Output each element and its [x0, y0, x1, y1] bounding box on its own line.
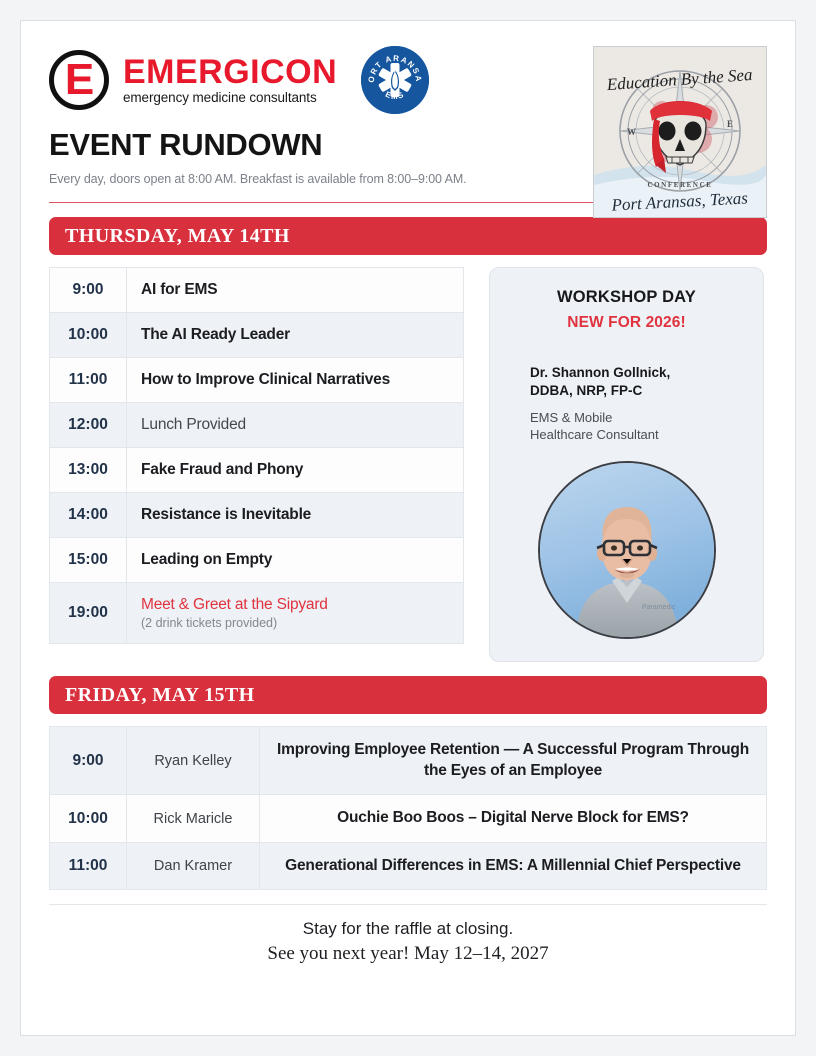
row-time: 13:00	[50, 448, 127, 492]
row-time: 14:00	[50, 493, 127, 537]
row-time: 11:00	[50, 358, 127, 402]
row-speaker: Ryan Kelley	[127, 727, 260, 794]
row-time: 19:00	[50, 583, 127, 643]
event-rundown-page: E EMERGICON emergency medicine consultan…	[20, 20, 796, 1036]
svg-text:Paramedic: Paramedic	[642, 604, 676, 611]
row-title-cell: Resistance is Inevitable	[127, 493, 463, 537]
emergicon-tagline: emergency medicine consultants	[123, 90, 337, 105]
table-row: 19:00Meet & Greet at the Sipyard(2 drink…	[49, 583, 464, 644]
svg-text:E: E	[727, 119, 733, 129]
row-session-title: Ouchie Boo Boos – Digital Nerve Block fo…	[337, 808, 689, 828]
row-time: 15:00	[50, 538, 127, 582]
day-banner-thursday: THURSDAY, MAY 14TH	[49, 217, 767, 255]
table-row: 13:00Fake Fraud and Phony	[49, 448, 464, 493]
day-banner-friday: FRIDAY, MAY 15TH	[49, 676, 767, 714]
port-aransas-ems-logo-icon: PORT ARANSAS EMS	[361, 46, 429, 114]
workshop-speaker-name: Dr. Shannon Gollnick,DDBA, NRP, FP-C	[508, 364, 745, 399]
row-title-cell: How to Improve Clinical Narratives	[127, 358, 463, 402]
emergicon-wordmark: EMERGICON	[123, 55, 337, 90]
row-session-title: Resistance is Inevitable	[141, 506, 449, 524]
table-row: 14:00Resistance is Inevitable	[49, 493, 464, 538]
row-session-title: Lunch Provided	[141, 416, 449, 434]
table-row: 11:00How to Improve Clinical Narratives	[49, 358, 464, 403]
row-time: 10:00	[50, 313, 127, 357]
thursday-section: 9:00AI for EMS10:00The AI Ready Leader11…	[49, 267, 767, 662]
row-time: 10:00	[50, 795, 127, 841]
row-session-title: How to Improve Clinical Narratives	[141, 371, 449, 389]
friday-schedule-table: 9:00Ryan KelleyImproving Employee Retent…	[49, 726, 767, 890]
svg-text:W: W	[627, 127, 636, 137]
emergicon-e-letter: E	[65, 58, 93, 102]
table-row: 9:00AI for EMS	[49, 267, 464, 313]
row-session-title: Improving Employee Retention — A Success…	[274, 740, 752, 781]
workshop-card: WORKSHOP DAY NEW FOR 2026! Dr. Shannon G…	[489, 267, 764, 662]
row-session-title: Fake Fraud and Phony	[141, 461, 449, 479]
footer-line-1: Stay for the raffle at closing.	[49, 919, 767, 939]
row-title-cell: Improving Employee Retention — A Success…	[260, 727, 766, 794]
thursday-schedule-table: 9:00AI for EMS10:00The AI Ready Leader11…	[49, 267, 464, 644]
row-time: 12:00	[50, 403, 127, 447]
row-session-title: Meet & Greet at the Sipyard	[141, 596, 449, 614]
row-title-cell: Fake Fraud and Phony	[127, 448, 463, 492]
row-session-title: The AI Ready Leader	[141, 326, 449, 344]
workshop-speaker-role: EMS & MobileHealthcare Consultant	[508, 409, 745, 443]
table-row: 11:00Dan KramerGenerational Differences …	[49, 843, 767, 890]
row-speaker: Rick Maricle	[127, 795, 260, 841]
row-time: 9:00	[50, 727, 127, 794]
emergicon-wordmark-block: EMERGICON emergency medicine consultants	[123, 55, 337, 106]
page-footer: Stay for the raffle at closing. See you …	[49, 904, 767, 965]
workshop-heading: WORKSHOP DAY	[508, 288, 745, 307]
row-title-cell: Leading on Empty	[127, 538, 463, 582]
emergicon-logo: E EMERGICON emergency medicine consultan…	[49, 50, 337, 110]
workshop-subheading: NEW FOR 2026!	[508, 314, 745, 332]
row-session-title: Generational Differences in EMS: A Mille…	[285, 856, 741, 876]
row-session-title: Leading on Empty	[141, 551, 449, 569]
footer-line-2: See you next year! May 12–14, 2027	[49, 943, 767, 965]
row-time: 9:00	[50, 268, 127, 312]
row-speaker: Dan Kramer	[127, 843, 260, 889]
conference-badge-image: W E	[593, 46, 767, 218]
row-session-title: AI for EMS	[141, 281, 449, 299]
row-time: 11:00	[50, 843, 127, 889]
row-title-cell: Generational Differences in EMS: A Mille…	[260, 843, 766, 889]
table-row: 10:00Rick MaricleOuchie Boo Boos – Digit…	[49, 795, 767, 842]
emergicon-e-mark-icon: E	[49, 50, 109, 110]
row-title-cell: Ouchie Boo Boos – Digital Nerve Block fo…	[260, 795, 766, 841]
table-row: 12:00Lunch Provided	[49, 403, 464, 448]
svg-text:CONFERENCE: CONFERENCE	[647, 181, 712, 189]
row-title-cell: Meet & Greet at the Sipyard(2 drink tick…	[127, 583, 463, 643]
row-session-note: (2 drink tickets provided)	[141, 616, 449, 630]
row-title-cell: The AI Ready Leader	[127, 313, 463, 357]
day-banner-friday-label: FRIDAY, MAY 15TH	[65, 684, 255, 707]
page-header: E EMERGICON emergency medicine consultan…	[49, 47, 767, 203]
row-title-cell: AI for EMS	[127, 268, 463, 312]
row-title-cell: Lunch Provided	[127, 403, 463, 447]
table-row: 15:00Leading on Empty	[49, 538, 464, 583]
table-row: 9:00Ryan KelleyImproving Employee Retent…	[49, 726, 767, 795]
speaker-headshot-image: Paramedic	[538, 461, 716, 639]
table-row: 10:00The AI Ready Leader	[49, 313, 464, 358]
day-banner-thursday-label: THURSDAY, MAY 14TH	[65, 225, 290, 248]
